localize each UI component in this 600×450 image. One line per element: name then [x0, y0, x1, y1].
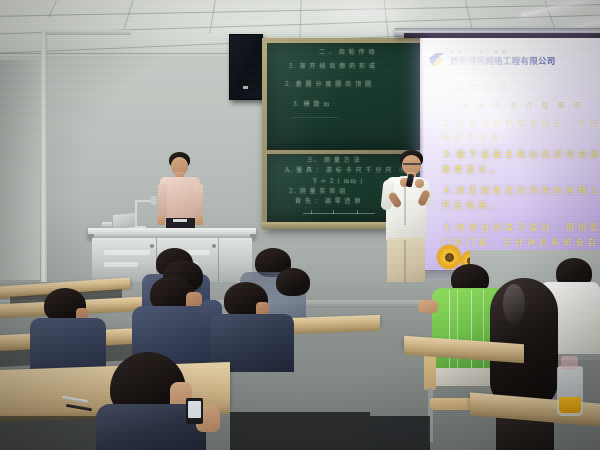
laptop-device — [113, 213, 135, 229]
wall-conduit — [41, 32, 47, 282]
chalk-line: 2. 测 量 实 验 组 — [289, 188, 346, 196]
presenter-hand-right — [415, 179, 424, 188]
student-chair — [430, 398, 474, 410]
slide-list-item: 5. 将 讲 台 的 盖 子 盖 好 ， 用 钥 匙 锁 好 柜 门 ， — [444, 222, 600, 233]
eyeglasses-icon — [403, 163, 421, 165]
microphone-stand — [135, 200, 137, 228]
belt — [173, 219, 187, 222]
ceiling-conduit — [41, 30, 131, 35]
left-wall-return — [0, 60, 40, 280]
bottle-wrapper — [561, 356, 578, 370]
audience-arm — [418, 300, 438, 313]
speaker-led-icon — [243, 86, 248, 89]
blackboard-upper-panel: 二 、 齿 轮 传 动 1. 渐 开 线 齿 廓 的 形 成 2. 基 圆 分 … — [267, 43, 437, 150]
slide-list-item: 开 启 电 源 。 — [442, 200, 499, 211]
slide-list-item: 4. 将 无 线 麦 克 的 领 夹 拾 音 器 上 的 开 关 拨 到 ， — [444, 185, 600, 196]
audience-shirt — [268, 290, 326, 338]
classroom-photo: 二 、 齿 轮 传 动 1. 渐 开 线 齿 廓 的 形 成 2. 基 圆 分 … — [0, 0, 600, 450]
slide-list-item: 门 柜 门 锁 ， 五 分 钟 后 系 统 会 自 动 切 断 电 源 。 — [442, 237, 600, 248]
chalk-line: 1. 渐 开 线 齿 廓 的 形 成 — [289, 63, 376, 71]
chalk-line: 首 先 ： 调 零 还 原 — [295, 198, 361, 206]
chalk-axis-diagram — [303, 213, 375, 214]
chalk-line: 三、 测 量 方 法 — [307, 157, 361, 165]
chalk-line: A. 量 具 ： 游 标 卡 尺 千 分 尺 — [285, 167, 392, 175]
projector-screen: 系 列 （ 产 品 ） 集 团 西安博风网络工程有限公司 操 作 说 明 开 闭… — [420, 38, 600, 270]
slide-list-item: 观 察 显 示 。 — [442, 164, 499, 175]
audience-trousers — [436, 368, 494, 386]
water-bottle[interactable] — [557, 366, 583, 416]
microphone-head-icon — [150, 196, 157, 205]
wall-speaker — [229, 34, 263, 100]
chalk-line: 2. 基 圆 分 度 圆 齿 顶 圆 — [285, 81, 372, 89]
chalk-line: 3. 模 数 m — [293, 101, 330, 109]
chalk-line: Y = 2 ( mm ) — [313, 178, 363, 186]
chalk-line: 二 、 齿 轮 传 动 — [319, 49, 376, 57]
mobile-phone[interactable] — [186, 398, 203, 424]
lectern-desktop — [88, 228, 256, 238]
